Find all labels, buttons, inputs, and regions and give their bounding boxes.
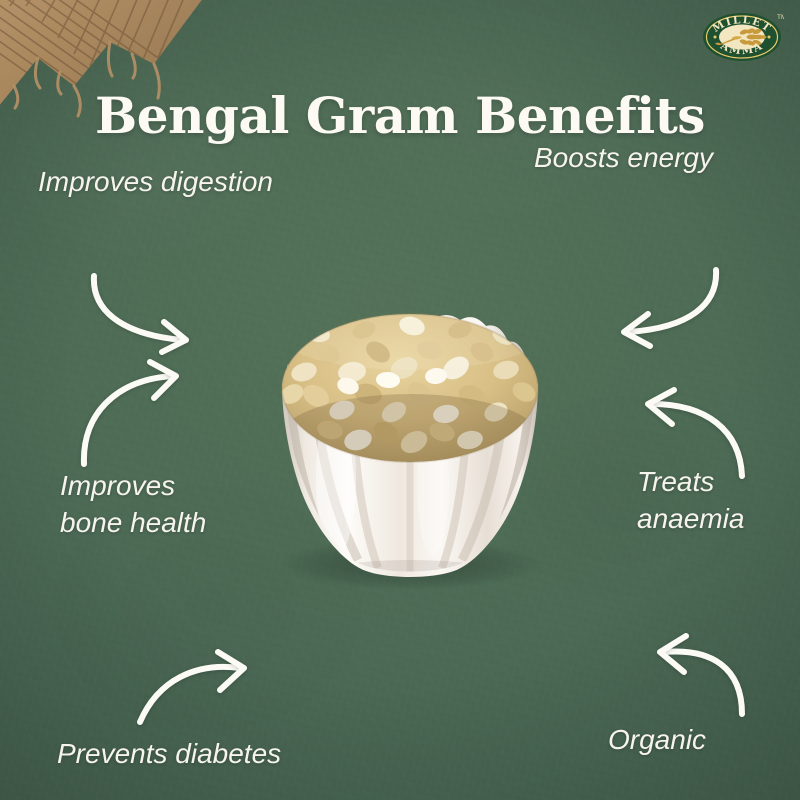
millet-amma-logo[interactable]: MILLET AMMA TM	[702, 11, 784, 63]
trademark-symbol: TM	[777, 14, 784, 21]
benefit-label-organic: Organic	[608, 722, 706, 759]
page-title: Bengal Gram Benefits	[0, 86, 800, 145]
benefit-label-improves-bone-health: Improves bone health	[60, 468, 206, 542]
benefit-label-prevents-diabetes: Prevents diabetes	[57, 736, 281, 773]
bengal-gram-bowl-image	[228, 268, 592, 600]
benefit-label-treats-anaemia: Treats anaemia	[637, 464, 744, 538]
benefit-label-improves-digestion: Improves digestion	[38, 164, 273, 201]
infographic-poster: MILLET AMMA TM Bengal Gram Benefits	[0, 0, 800, 800]
benefit-label-boosts-energy: Boosts energy	[534, 140, 713, 177]
